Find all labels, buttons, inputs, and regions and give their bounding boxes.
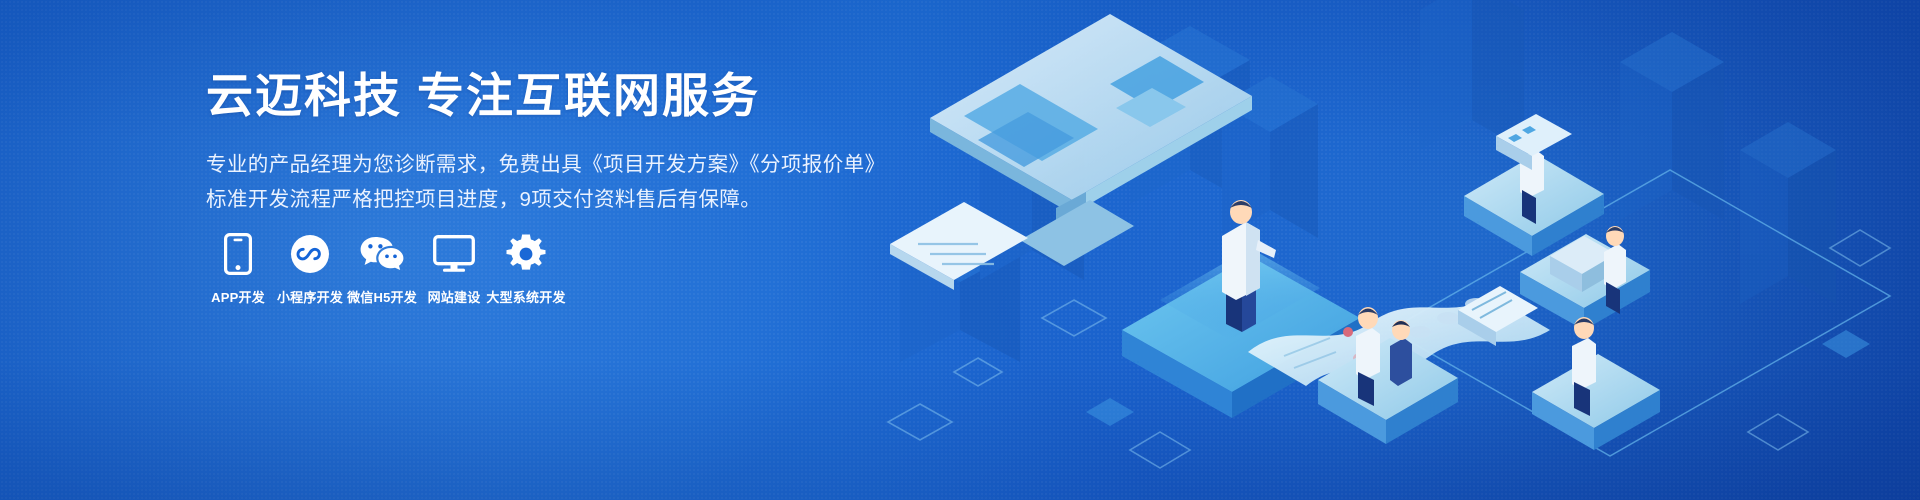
banner-subtitle: 专业的产品经理为您诊断需求，免费出具《项目开发方案》《分项报价单》 标准开发流程…: [206, 147, 926, 218]
service-item-mini-program[interactable]: 小程序开发: [274, 232, 346, 306]
monitor-icon: [433, 232, 475, 276]
mini-program-icon: [290, 232, 330, 276]
service-item-wechat-h5[interactable]: 微信H5开发: [346, 232, 418, 306]
service-item-app[interactable]: APP开发: [202, 232, 274, 306]
subtitle-line-2: 标准开发流程严格把控项目进度，9项交付资料售后有保障。: [206, 182, 926, 217]
wechat-icon: [359, 232, 405, 276]
gear-icon: [505, 232, 547, 276]
subtitle-line-1: 专业的产品经理为您诊断需求，免费出具《项目开发方案》《分项报价单》: [206, 147, 926, 182]
page-title: 云迈科技 专注互联网服务: [206, 70, 926, 123]
service-label: 网站建设: [428, 287, 481, 306]
hero-banner: 云迈科技 专注互联网服务 专业的产品经理为您诊断需求，免费出具《项目开发方案》《…: [0, 0, 1920, 500]
illustration-isometric-scene: [860, 0, 1920, 500]
service-item-large-system[interactable]: 大型系统开发: [490, 232, 562, 306]
service-item-website[interactable]: 网站建设: [418, 232, 490, 306]
service-label: APP开发: [211, 287, 265, 306]
mobile-phone-icon: [224, 232, 252, 276]
service-list: APP开发 小程序开发 微信: [202, 232, 562, 306]
service-label: 大型系统开发: [486, 287, 565, 306]
banner-copy: 云迈科技 专注互联网服务 专业的产品经理为您诊断需求，免费出具《项目开发方案》《…: [206, 70, 926, 217]
service-label: 微信H5开发: [347, 287, 417, 306]
service-label: 小程序开发: [277, 287, 343, 306]
